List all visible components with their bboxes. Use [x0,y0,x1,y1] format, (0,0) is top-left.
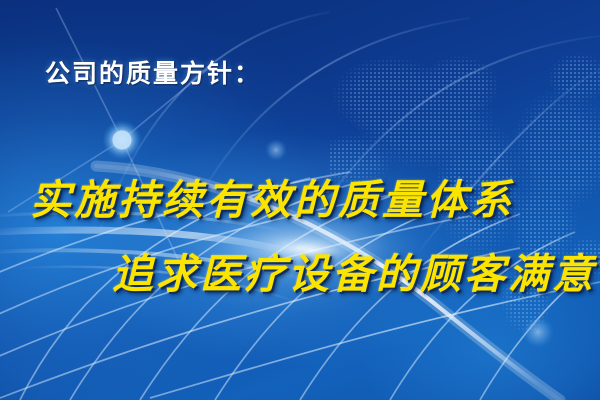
policy-text-stack: 公司的质量方针： 实施持续有效的质量体系 追求医疗设备的顾客满意 [0,0,600,400]
policy-line-2: 追求医疗设备的顾客满意 [112,240,596,300]
policy-heading: 公司的质量方针： [45,54,261,90]
policy-line-1: 实施持续有效的质量体系 [30,166,514,226]
quality-policy-banner: 公司的质量方针： 实施持续有效的质量体系 追求医疗设备的顾客满意 [0,0,600,400]
